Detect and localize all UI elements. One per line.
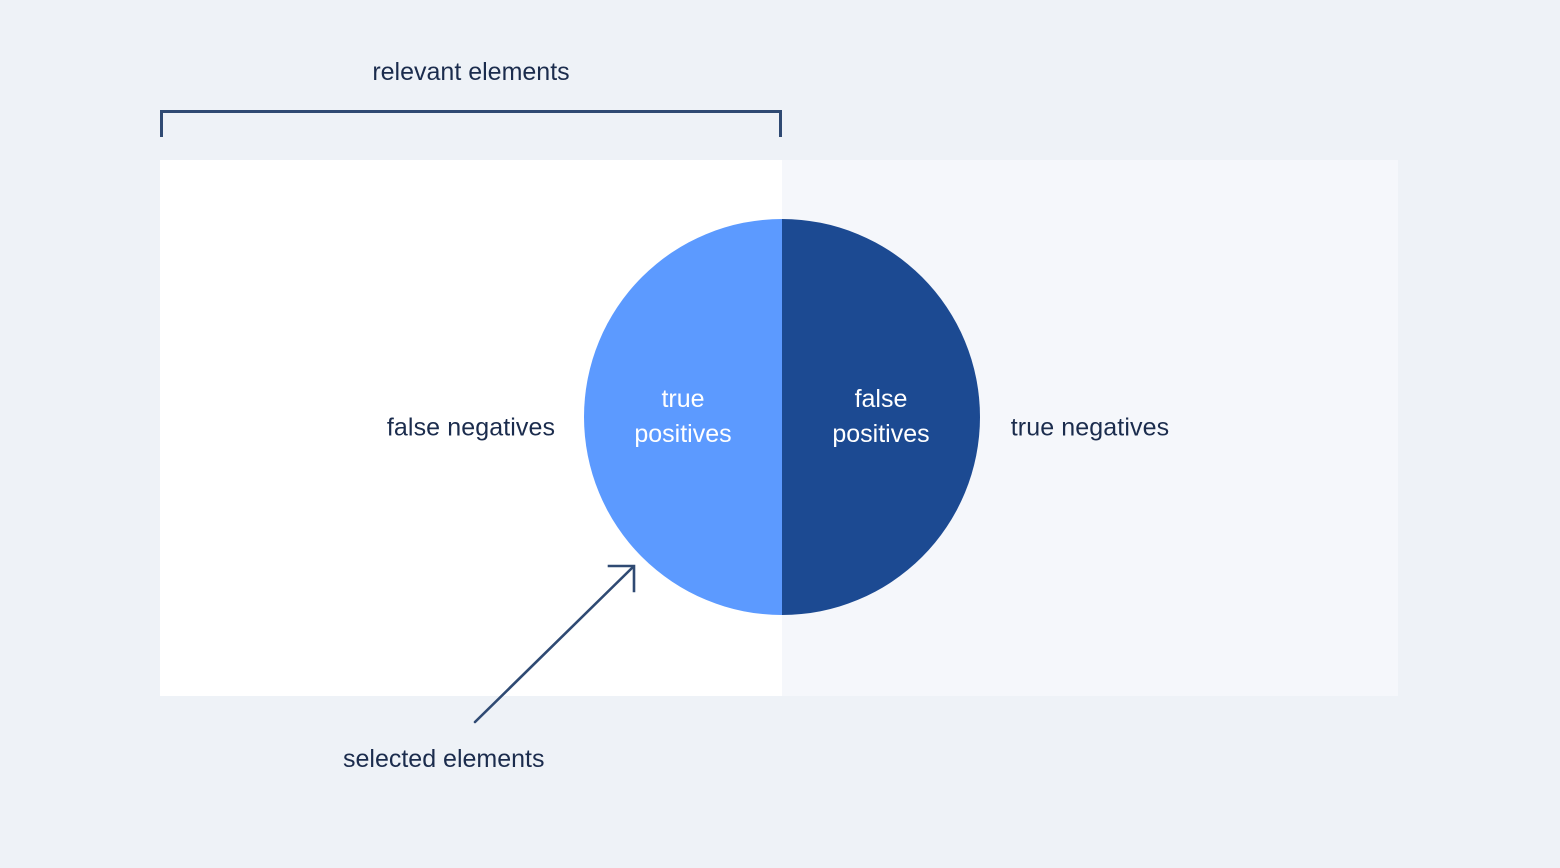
false-positives-label: false positives bbox=[832, 382, 929, 453]
relevant-elements-label: relevant elements bbox=[160, 58, 782, 87]
selected-elements-arrow-icon bbox=[455, 550, 655, 746]
relevant-elements-bracket bbox=[160, 110, 782, 137]
diagram-canvas: relevant elements false negatives true n… bbox=[0, 0, 1560, 868]
selected-elements-label: selected elements bbox=[343, 745, 545, 774]
true-positives-label: true positives bbox=[634, 382, 731, 453]
